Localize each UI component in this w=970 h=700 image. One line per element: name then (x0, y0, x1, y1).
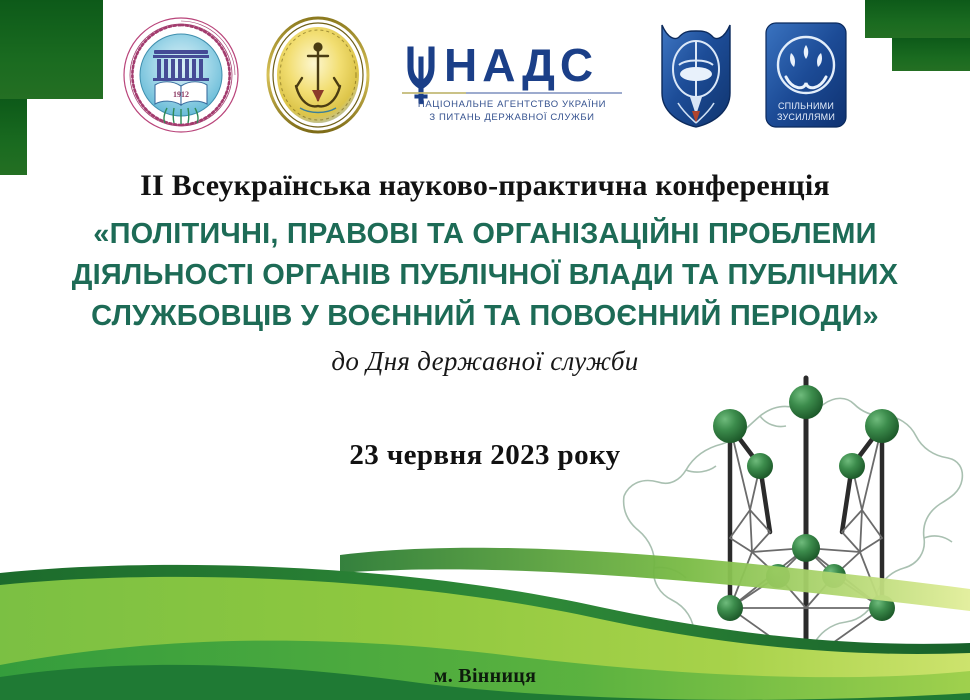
conference-theme: «ПОЛІТИЧНІ, ПРАВОВІ ТА ОРГАНІЗАЦІЙНІ ПРО… (0, 214, 970, 338)
vinnytsia-university-emblem-icon: 1912 (122, 16, 240, 134)
nads-logo-icon: НАДС НАЦІОНАЛЬНЕ АГЕНТСТВО УКРАЇНИ З ПИТ… (396, 27, 628, 123)
theme-line-2: ДІЯЛЬНОСТІ ОРГАНІВ ПУБЛІЧНОЇ ВЛАДИ ТА ПУ… (6, 255, 964, 296)
conference-line: II Всеукраїнська науково-практична конфе… (0, 170, 970, 202)
spilnymy-zusyllamy-line1: СПІЛЬНИМИ (778, 101, 834, 111)
spilnymy-zusyllamy-emblem-icon: СПІЛЬНИМИ ЗУСИЛЛЯМИ (764, 21, 848, 129)
svg-text:1912: 1912 (173, 90, 189, 99)
nads-subtitle-line2: З ПИТАНЬ ДЕРЖАВНОЇ СЛУЖБИ (429, 112, 594, 123)
dedication-line: до Дня державної служби (0, 346, 970, 377)
nads-logo: НАДС НАЦІОНАЛЬНЕ АГЕНТСТВО УКРАЇНИ З ПИТ… (396, 27, 628, 123)
spilnymy-zusyllamy-line2: ЗУСИЛЛЯМИ (777, 112, 835, 122)
gold-oval-emblem-icon (266, 16, 370, 134)
city-label: м. Вінниця (0, 665, 970, 688)
nads-acronym: НАДС (444, 39, 598, 91)
theme-line-3: СЛУЖБОВЦІВ У ВОЄННИЙ ТА ПОВОЄННИЙ ПЕРІОД… (6, 296, 964, 337)
blue-shield-emblem-icon (654, 19, 738, 131)
poster-text-block: II Всеукраїнська науково-практична конфе… (0, 170, 970, 472)
theme-line-1: «ПОЛІТИЧНІ, ПРАВОВІ ТА ОРГАНІЗАЦІЙНІ ПРО… (6, 214, 964, 255)
conference-poster: 1912 (0, 0, 970, 700)
nads-subtitle-line1: НАЦІОНАЛЬНЕ АГЕНТСТВО УКРАЇНИ (418, 99, 606, 110)
conference-date: 23 червня 2023 року (0, 439, 970, 472)
logo-strip: 1912 (0, 0, 970, 150)
